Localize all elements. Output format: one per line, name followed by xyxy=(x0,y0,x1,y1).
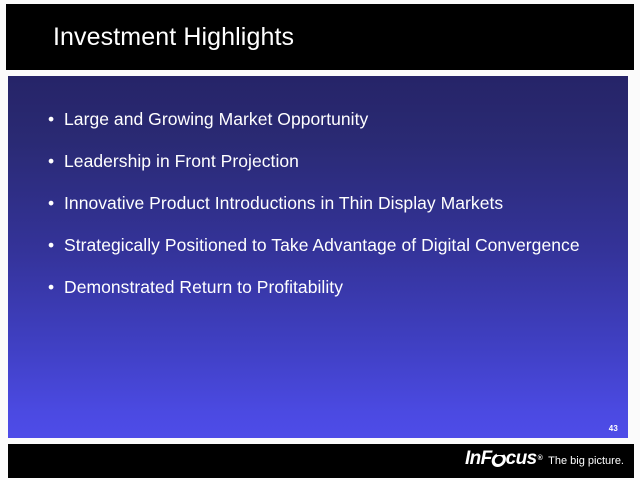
list-item-label: Large and Growing Market Opportunity xyxy=(64,108,618,131)
lens-icon xyxy=(490,453,506,467)
logo-suffix-text: cus xyxy=(506,449,537,468)
list-item-label: Leadership in Front Projection xyxy=(64,150,618,173)
list-item: • Demonstrated Return to Profitability xyxy=(48,276,618,299)
registered-mark-icon: ® xyxy=(538,455,543,462)
list-item: • Strategically Positioned to Take Advan… xyxy=(48,234,618,257)
list-item: • Large and Growing Market Opportunity xyxy=(48,108,618,131)
list-item: • Leadership in Front Projection xyxy=(48,150,618,173)
slide-title-band: Investment Highlights xyxy=(6,4,634,70)
page-title: Investment Highlights xyxy=(53,22,294,52)
logo-prefix-text: InF xyxy=(465,449,492,468)
bullet-dot-icon: • xyxy=(48,108,54,131)
list-item-label: Strategically Positioned to Take Advanta… xyxy=(64,234,618,257)
slide-content-panel: • Large and Growing Market Opportunity •… xyxy=(8,76,628,438)
bullet-dot-icon: • xyxy=(48,150,54,173)
brand-block: InF cus ® The big picture. xyxy=(465,449,624,468)
bullet-dot-icon: • xyxy=(48,234,54,257)
bullet-dot-icon: • xyxy=(48,276,54,299)
list-item-label: Innovative Product Introductions in Thin… xyxy=(64,192,618,215)
presentation-slide: Investment Highlights • Large and Growin… xyxy=(0,0,640,480)
brand-tagline: The big picture. xyxy=(548,455,624,468)
bullet-list: • Large and Growing Market Opportunity •… xyxy=(48,108,618,299)
infocus-logo: InF cus ® xyxy=(465,449,542,468)
slide-footer-bar: InF cus ® The big picture. xyxy=(8,444,634,478)
bullet-dot-icon: • xyxy=(48,192,54,215)
list-item: • Innovative Product Introductions in Th… xyxy=(48,192,618,215)
list-item-label: Demonstrated Return to Profitability xyxy=(64,276,618,299)
slide-page-number: 43 xyxy=(609,424,618,434)
